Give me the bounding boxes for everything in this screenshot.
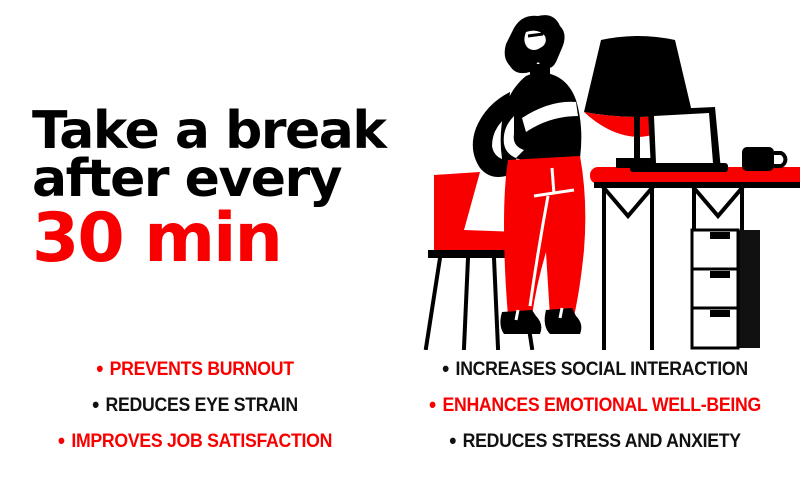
benefit-label: REDUCES STRESS AND ANXIETY	[463, 431, 741, 453]
benefit-item-reduces-eye-strain: • REDUCES EYE STRAIN	[14, 395, 377, 417]
benefit-item-enhances-emotional-well-being: • ENHANCES EMOTIONAL WELL-BEING	[404, 395, 785, 417]
bullet-icon: •	[92, 394, 99, 416]
bullet-icon: •	[429, 394, 436, 416]
benefit-label: ENHANCES EMOTIONAL WELL-BEING	[442, 395, 760, 417]
bullet-icon: •	[442, 358, 449, 380]
benefit-item-increases-social-interaction: • INCREASES SOCIAL INTERACTION	[404, 359, 785, 381]
headline-line-2: after every	[32, 156, 432, 204]
poster-canvas: Take a break after every 30 min	[0, 0, 800, 480]
coffee-mug-icon	[742, 147, 785, 171]
benefit-label: INCREASES SOCIAL INTERACTION	[456, 359, 748, 381]
bullet-icon: •	[58, 430, 65, 452]
bullet-icon: •	[96, 358, 103, 380]
bullet-icon: •	[449, 430, 456, 452]
benefit-item-prevents-burnout: • PREVENTS BURNOUT	[14, 359, 377, 381]
headline-duration: 30 min	[32, 208, 432, 271]
benefit-label: REDUCES EYE STRAIN	[106, 395, 298, 417]
workplace-illustration	[398, 0, 800, 350]
benefit-item-improves-job-satisfaction: • IMPROVES JOB SATISFACTION	[14, 431, 377, 453]
person-figure-icon	[473, 15, 586, 334]
benefit-label: IMPROVES JOB SATISFACTION	[71, 431, 332, 453]
benefits-list: • PREVENTS BURNOUT • INCREASES SOCIAL IN…	[0, 352, 800, 460]
drawer-cabinet-icon	[692, 230, 760, 348]
benefit-label: PREVENTS BURNOUT	[110, 359, 294, 381]
headline-block: Take a break after every 30 min	[32, 108, 432, 270]
benefit-item-reduces-stress-and-anxiety: • REDUCES STRESS AND ANXIETY	[404, 431, 785, 453]
